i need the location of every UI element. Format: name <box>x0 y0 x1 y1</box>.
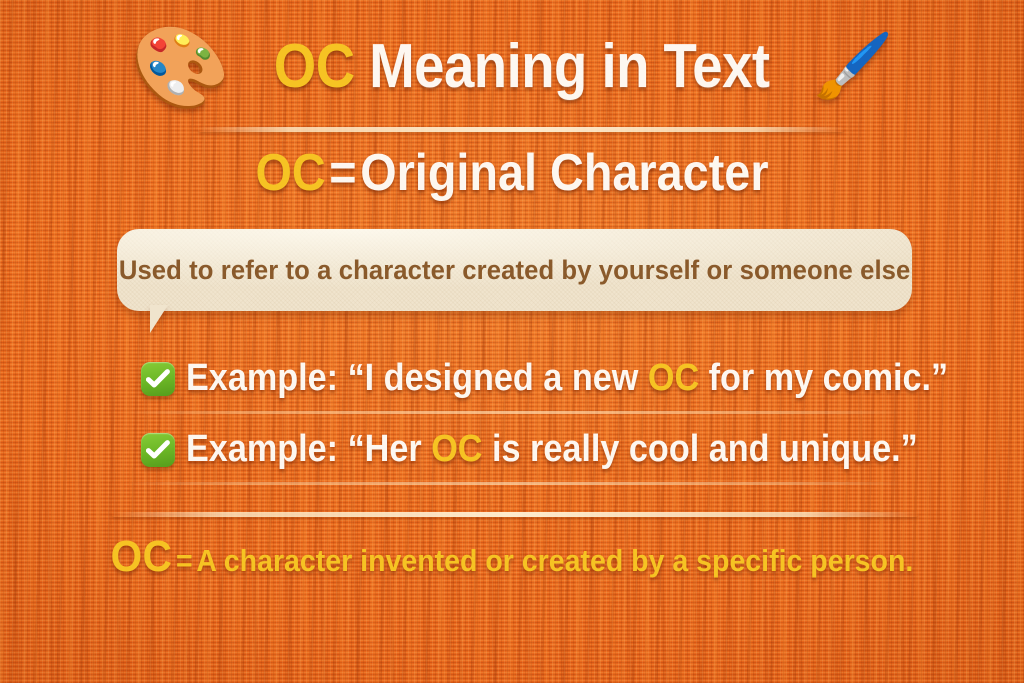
example-term: OC <box>431 428 482 470</box>
divider-below-title <box>198 127 844 132</box>
definition-equals: = <box>326 144 361 202</box>
description-speech-bubble: Used to refer to a character created by … <box>117 229 912 311</box>
example-label: Example: <box>186 357 338 399</box>
example-quote-close: for my comic.” <box>699 357 948 399</box>
example-label: Example: <box>186 428 338 470</box>
example-quote-open: “Her <box>338 428 431 470</box>
speech-bubble-tail <box>150 305 188 333</box>
check-mark-icon <box>141 433 175 467</box>
divider-above-summary <box>112 512 918 517</box>
description-text: Used to refer to a character created by … <box>119 255 911 286</box>
example-quote-open: “I designed a new <box>338 357 648 399</box>
summary-line: OC=A character invented or created by a … <box>41 532 983 582</box>
check-mark-icon <box>141 362 175 396</box>
palette-icon: 🎨 <box>131 28 231 108</box>
page-header: 🎨 OC Meaning in Text 🖌️ <box>0 26 1024 108</box>
page-title: OC Meaning in Text <box>274 35 770 98</box>
definition-expansion: Original Character <box>360 144 768 202</box>
summary-term: OC <box>111 532 173 581</box>
divider-below-example-1 <box>122 411 908 414</box>
example-row: Example: “I designed a new OC for my com… <box>141 359 1024 399</box>
example-row: Example: “Her OC is really cool and uniq… <box>141 430 999 470</box>
example-term: OC <box>648 357 699 399</box>
infographic-canvas: 🎨 OC Meaning in Text 🖌️ OC=Original Char… <box>0 0 1024 683</box>
page-title-term: OC <box>274 32 355 101</box>
summary-text: A character invented or created by a spe… <box>196 543 913 578</box>
paintbrush-icon: 🖌️ <box>814 34 894 98</box>
page-title-suffix: Meaning in Text <box>370 32 770 101</box>
summary-equals: = <box>172 543 196 578</box>
example-text: Example: “I designed a new OC for my com… <box>186 359 948 399</box>
page-title-rest <box>355 32 370 101</box>
example-text: Example: “Her OC is really cool and uniq… <box>186 430 918 470</box>
definition-term: OC <box>255 144 325 202</box>
definition-line: OC=Original Character <box>51 146 973 201</box>
divider-below-example-2 <box>122 482 908 485</box>
example-quote-close: is really cool and unique.” <box>483 428 918 470</box>
content-layer: 🎨 OC Meaning in Text 🖌️ OC=Original Char… <box>0 0 1024 683</box>
